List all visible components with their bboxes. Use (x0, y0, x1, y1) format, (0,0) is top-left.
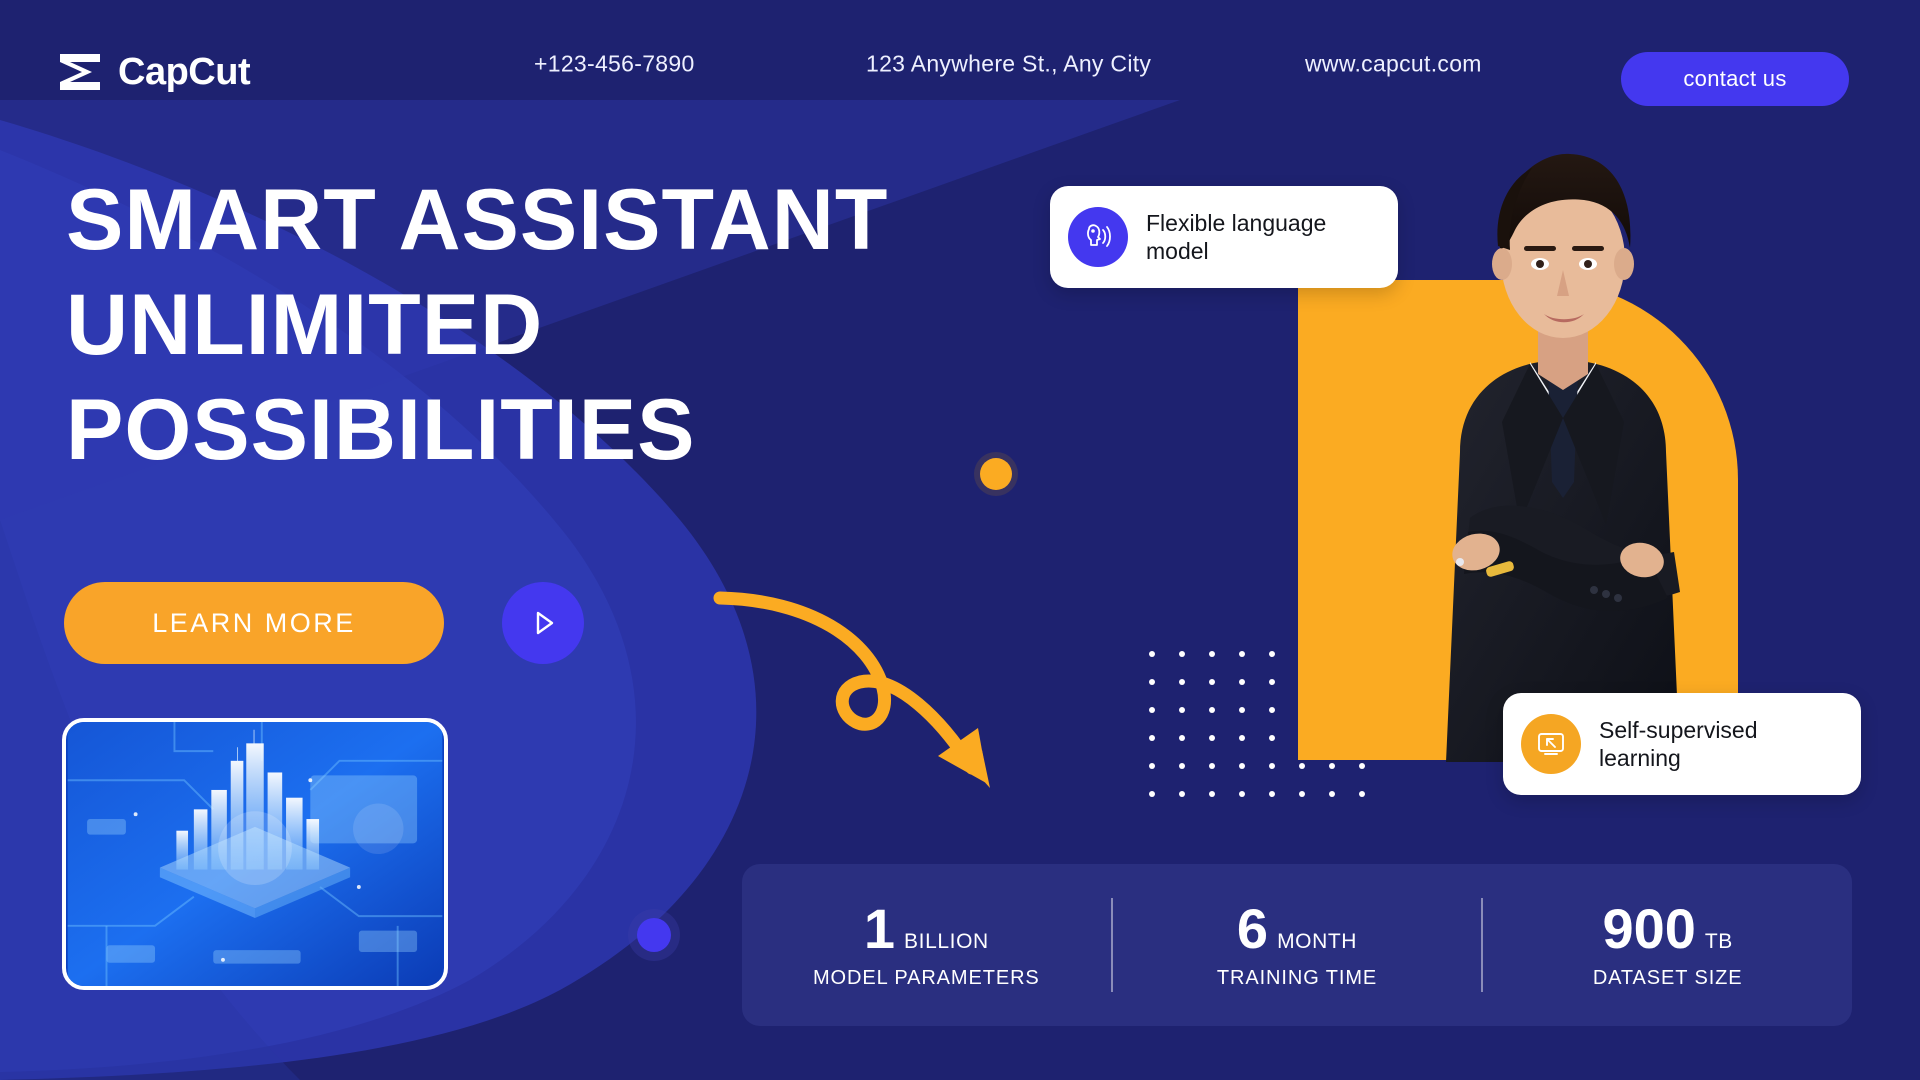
learn-more-button[interactable]: LEARN MORE (64, 582, 444, 664)
stat-value-row: 900 TB (1602, 901, 1732, 957)
stat-value: 900 (1602, 901, 1695, 957)
stat-value: 1 (864, 901, 895, 957)
blue-dot-decoration (637, 918, 671, 952)
feature-badge-label: Self-supervised learning (1599, 716, 1835, 772)
header-website[interactable]: www.capcut.com (1305, 51, 1482, 78)
feature-badge-label: Flexible language model (1146, 209, 1372, 265)
tech-image-card[interactable] (62, 718, 448, 990)
headline-line-1: SMART ASSISTANT (66, 168, 888, 273)
capcut-logo-icon (56, 50, 104, 94)
stat-value: 6 (1237, 901, 1268, 957)
site-header: CapCut +123-456-7890 123 Anywhere St., A… (0, 0, 1920, 130)
play-icon (526, 606, 560, 640)
stat-item: 1 BILLION MODEL PARAMETERS (742, 901, 1111, 990)
stat-unit: BILLION (904, 930, 989, 954)
feature-badge-language[interactable]: Flexible language model (1050, 186, 1398, 288)
brand-name: CapCut (118, 51, 250, 94)
headline-line-2: UNLIMITED (66, 273, 888, 378)
speaking-head-icon (1068, 207, 1128, 267)
orange-dot-decoration (980, 458, 1012, 490)
contact-us-button[interactable]: contact us (1621, 52, 1849, 106)
cta-row: LEARN MORE (64, 582, 584, 664)
stat-label: MODEL PARAMETERS (813, 967, 1040, 990)
person-photo (1398, 122, 1728, 762)
stat-unit: TB (1705, 930, 1733, 954)
feature-badge-learning[interactable]: Self-supervised learning (1503, 693, 1861, 795)
stat-item: 6 MONTH TRAINING TIME (1113, 901, 1482, 990)
stat-label: DATASET SIZE (1593, 967, 1743, 990)
stat-value-row: 1 BILLION (864, 901, 989, 957)
curved-arrow-icon (700, 570, 1040, 850)
page-title: SMART ASSISTANT UNLIMITED POSSIBILITIES (66, 168, 888, 483)
stat-unit: MONTH (1277, 930, 1357, 954)
stat-label: TRAINING TIME (1217, 967, 1377, 990)
header-address: 123 Anywhere St., Any City (866, 51, 1151, 78)
headline-line-3: POSSIBILITIES (66, 378, 888, 483)
monitor-arrow-icon (1521, 714, 1581, 774)
circuit-city-image (66, 722, 444, 986)
stat-item: 900 TB DATASET SIZE (1483, 901, 1852, 990)
stat-value-row: 6 MONTH (1237, 901, 1357, 957)
play-video-button[interactable] (502, 582, 584, 664)
header-phone[interactable]: +123-456-7890 (534, 51, 695, 78)
stats-panel: 1 BILLION MODEL PARAMETERS 6 MONTH TRAIN… (742, 864, 1852, 1026)
brand-logo[interactable]: CapCut (56, 50, 250, 94)
